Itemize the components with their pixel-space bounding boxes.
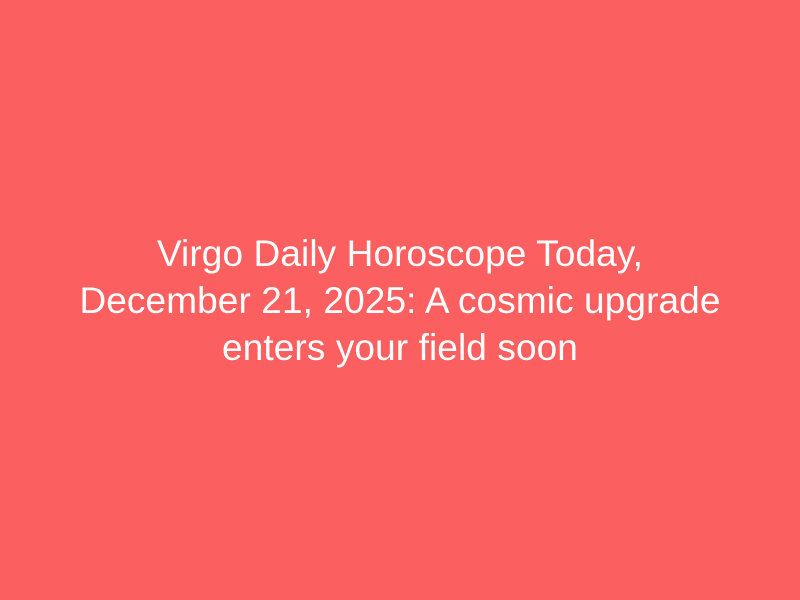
page-title: Virgo Daily Horoscope Today, December 21… (70, 230, 730, 371)
headline-block: Virgo Daily Horoscope Today, December 21… (70, 230, 730, 371)
hero-card: Virgo Daily Horoscope Today, December 21… (0, 0, 800, 600)
